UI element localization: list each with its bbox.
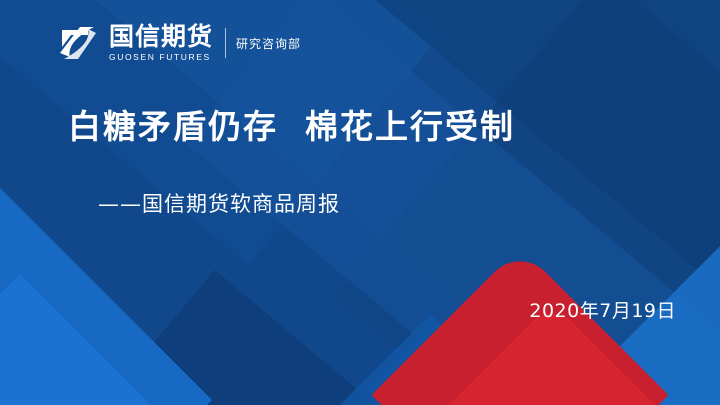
logo-divider (225, 28, 226, 58)
brand-name-en: GUOSEN FUTURES (109, 53, 213, 62)
brand-name-cn: 国信期货 (109, 24, 213, 49)
report-date: 2020年7月19日 (529, 296, 676, 323)
brand-department: 研究咨询部 (236, 35, 301, 52)
brand-logo: 国信期货 GUOSEN FUTURES 研究咨询部 (58, 22, 301, 64)
page-subtitle: ——国信期货软商品周报 (98, 188, 340, 218)
page-title: 白糖矛盾仍存 棉花上行受制 (68, 100, 515, 148)
guosen-futures-logo-icon (58, 23, 100, 63)
presentation-slide: 国信期货 GUOSEN FUTURES 研究咨询部 白糖矛盾仍存 棉花上行受制 … (0, 0, 720, 405)
